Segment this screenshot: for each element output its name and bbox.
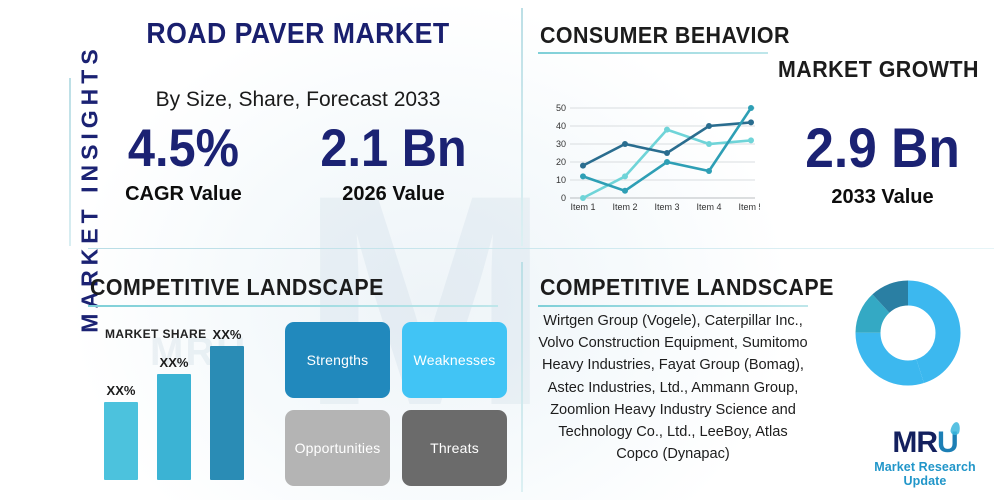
swot-weaknesses[interactable]: Weaknesses xyxy=(402,322,507,398)
page-title: ROAD PAVER MARKET xyxy=(105,18,491,51)
svg-text:0: 0 xyxy=(561,193,566,203)
bar-item: XX% xyxy=(210,327,244,480)
logo-mark-mr: MR xyxy=(892,426,937,459)
bar-rect xyxy=(210,346,244,480)
svg-text:Item 1: Item 1 xyxy=(570,202,595,212)
bar-value-label: XX% xyxy=(210,327,244,342)
divider-vertical-mid-top xyxy=(521,8,523,246)
svg-text:20: 20 xyxy=(556,157,566,167)
page-subtitle: By Size, Share, Forecast 2033 xyxy=(88,88,508,112)
svg-text:50: 50 xyxy=(556,103,566,113)
stat-cagr: 4.5% CAGR Value xyxy=(123,122,244,206)
svg-text:40: 40 xyxy=(556,121,566,131)
bar-value-label: XX% xyxy=(104,383,138,398)
divider-vertical-left xyxy=(69,78,71,246)
logo-mark: MRU xyxy=(892,428,957,458)
logo-subtitle: Market Research Update xyxy=(855,460,995,488)
line-chart-ytick-labels: 50 40 30 20 10 0 xyxy=(556,103,566,203)
stat-row: 4.5% CAGR Value 2.1 Bn 2026 Value xyxy=(88,122,508,206)
stat-2026-value: 2.1 Bn xyxy=(320,122,466,175)
svg-text:Item 3: Item 3 xyxy=(654,202,679,212)
donut-chart xyxy=(843,268,973,403)
market-share-title: MARKET SHARE xyxy=(105,327,206,341)
heading-competitive-landscape-left: COMPETITIVE LANDSCAPE xyxy=(90,274,384,301)
svg-text:Item 2: Item 2 xyxy=(612,202,637,212)
stat-2026: 2.1 Bn 2026 Value xyxy=(314,122,473,206)
stat-cagr-label: CAGR Value xyxy=(123,183,244,206)
line-series-2 xyxy=(583,108,751,191)
bar-rect xyxy=(104,402,138,480)
growth-value: 2.9 Bn xyxy=(779,120,986,176)
mru-logo: MRU Market Research Update xyxy=(855,428,995,488)
svg-text:Item 4: Item 4 xyxy=(696,202,721,212)
bar-item: XX% xyxy=(157,355,191,480)
water-drop-icon xyxy=(949,421,961,436)
swot-opportunities[interactable]: Opportunities xyxy=(285,410,390,486)
divider-vertical-mid-bottom xyxy=(521,262,523,492)
heading-consumer-behavior: CONSUMER BEHAVIOR xyxy=(540,22,790,49)
swot-strengths[interactable]: Strengths xyxy=(285,322,390,398)
bar-rect xyxy=(157,374,191,480)
company-list: Wirtgen Group (Vogele), Caterpillar Inc.… xyxy=(537,310,809,465)
divider-horizontal xyxy=(88,248,994,249)
heading-competitive-landscape-right: COMPETITIVE LANDSCAPE xyxy=(540,274,834,301)
bar-chart: XX% XX% XX% xyxy=(104,345,264,480)
heading-competitive-landscape-left-underline xyxy=(88,305,498,307)
donut-segment-2 xyxy=(868,293,948,373)
infographic-page: M MRU MARKET INSIGHTS ROAD PAVER MARKET … xyxy=(0,0,1000,500)
heading-consumer-behavior-underline xyxy=(538,52,768,54)
bar-item: XX% xyxy=(104,383,138,480)
bar-value-label: XX% xyxy=(157,355,191,370)
stat-cagr-value: 4.5% xyxy=(128,122,239,175)
swot-threats[interactable]: Threats xyxy=(402,410,507,486)
stat-2026-label: 2026 Value xyxy=(314,183,473,206)
swot-grid: Strengths Weaknesses Opportunities Threa… xyxy=(285,322,507,484)
growth-value-label: 2033 Value xyxy=(770,186,995,209)
heading-market-growth: MARKET GROWTH xyxy=(778,56,979,83)
svg-text:Item 5: Item 5 xyxy=(738,202,760,212)
line-chart-xtick-labels: Item 1 Item 2 Item 3 Item 4 Item 5 xyxy=(570,202,760,212)
svg-text:30: 30 xyxy=(556,139,566,149)
heading-competitive-landscape-right-underline xyxy=(538,305,808,307)
svg-text:10: 10 xyxy=(556,175,566,185)
line-chart: 50 40 30 20 10 0 xyxy=(540,100,760,217)
